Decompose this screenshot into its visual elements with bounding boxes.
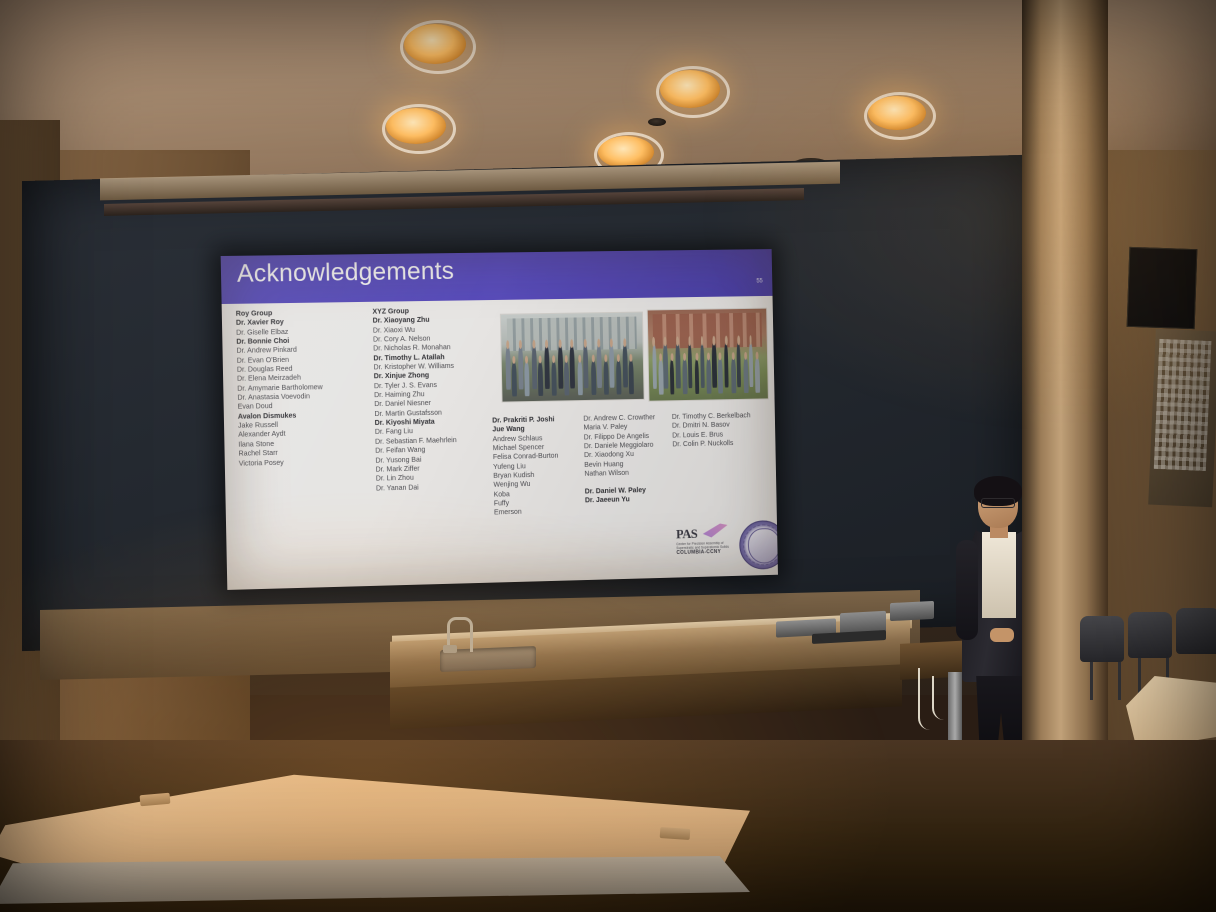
- lecture-hall-photo: Acknowledgements 55 Roy GroupDr. Xavier …: [0, 0, 1216, 912]
- chair-leg-1: [1090, 662, 1093, 700]
- downlight-3-rim: [864, 92, 936, 140]
- photo-person: [628, 359, 633, 394]
- periodic-table-grid: [1154, 339, 1212, 471]
- slide: Acknowledgements 55 Roy GroupDr. Xavier …: [221, 249, 778, 590]
- faucet-base: [443, 645, 457, 653]
- photo-person: [718, 358, 723, 394]
- photo-person: [695, 358, 700, 394]
- group-photo-left: [500, 312, 645, 403]
- presenter-hands: [990, 628, 1014, 642]
- photo-person: [663, 343, 668, 388]
- photo-building: [653, 312, 763, 348]
- photo-person: [683, 359, 688, 395]
- downlight-7: [648, 118, 666, 126]
- acknowledgement-column-4b: Dr. Daniel W. PaleyDr. Jaeeun Yu: [585, 486, 646, 506]
- photo-person: [570, 345, 576, 388]
- downlight-4-rim: [382, 104, 456, 154]
- photo-person: [724, 342, 729, 387]
- photo-person: [551, 361, 556, 396]
- acknowledgement-column-3: Dr. Prakriti P. JoshiJue WangAndrew Schl…: [492, 415, 587, 518]
- photo-person: [670, 359, 675, 395]
- photo-person: [652, 344, 657, 389]
- photo-person: [616, 360, 621, 395]
- photo-person: [707, 358, 712, 394]
- photo-person: [748, 342, 753, 387]
- acknowledgement-name: Dr. Jaeeun Yu: [585, 495, 646, 506]
- photo-person: [564, 361, 569, 396]
- photo-person: [596, 345, 602, 388]
- acknowledgement-column-roy-group: Roy GroupDr. Xavier RoyDr. Giselle Elbaz…: [236, 308, 378, 469]
- acknowledgement-name: Emerson: [494, 507, 587, 518]
- acknowledgement-column-5: Dr. Timothy C. BerkelbachDr. Dmitri N. B…: [672, 411, 768, 450]
- pas-logo: PAS Center for Precision Assembly of Sup…: [676, 525, 730, 560]
- chair-leg-3: [1138, 658, 1141, 696]
- photo-person: [538, 361, 543, 396]
- periodic-table-poster: [1148, 329, 1216, 508]
- group-photo-right: [647, 308, 769, 402]
- acknowledgement-column-4: Dr. Andrew C. CrowtherMaria V. PaleyDr. …: [583, 413, 673, 479]
- chair-2: [1128, 612, 1172, 658]
- photo-person: [755, 357, 760, 393]
- slide-number: 55: [756, 278, 762, 284]
- av-equipment-3: [890, 601, 934, 621]
- slide-title: Acknowledgements: [237, 257, 455, 289]
- photo-person: [591, 360, 596, 395]
- photo-person: [731, 358, 736, 394]
- photo-person: [622, 345, 628, 388]
- photo-person: [518, 346, 524, 389]
- photo-person: [558, 346, 564, 389]
- photo-person: [524, 361, 529, 396]
- photo-person: [583, 345, 589, 388]
- photo-person: [743, 358, 748, 394]
- photo-person: [531, 346, 537, 389]
- photo-person: [736, 342, 741, 387]
- photo-person: [511, 361, 516, 396]
- cable-2: [932, 676, 952, 720]
- photo-person: [609, 345, 615, 388]
- photo-person: [505, 347, 511, 390]
- chair-leg-2: [1118, 662, 1121, 700]
- photo-person: [712, 343, 717, 388]
- photo-person: [545, 346, 551, 389]
- slide-columns: Roy GroupDr. Xavier RoyDr. Giselle Elbaz…: [232, 302, 763, 310]
- glasses-icon: [981, 498, 1015, 508]
- photo-person: [676, 343, 681, 388]
- photo-person: [687, 343, 692, 388]
- presenter-arm-left: [956, 540, 978, 640]
- chair-1: [1080, 616, 1124, 662]
- acknowledgement-name: Dr. Yanan Dai: [376, 481, 494, 493]
- afosr-seal-icon: [739, 520, 778, 570]
- downlight-1-rim: [400, 20, 476, 74]
- acknowledgement-name: Nathan Wilson: [584, 468, 673, 479]
- acknowledgement-column-xyz-group: XYZ GroupDr. Xiaoyang ZhuDr. Xiaoxi WuDr…: [372, 306, 493, 493]
- projection-screen: Acknowledgements 55 Roy GroupDr. Xavier …: [221, 249, 778, 590]
- chair-3: [1176, 608, 1216, 654]
- photo-person: [700, 343, 705, 388]
- acknowledgement-name: Dr. Colin P. Nuckolls: [672, 438, 768, 449]
- desk-grommet-right: [660, 827, 691, 840]
- photo-people: [651, 345, 766, 396]
- photo-people: [504, 347, 640, 396]
- pas-institutions: COLUMBIA-CCNY: [676, 549, 730, 556]
- wall-monitor: [1127, 247, 1198, 329]
- downlight-2-rim: [656, 66, 730, 118]
- afosr-shield: [748, 528, 778, 564]
- presenter-shirt: [982, 532, 1016, 618]
- photo-person: [603, 360, 608, 395]
